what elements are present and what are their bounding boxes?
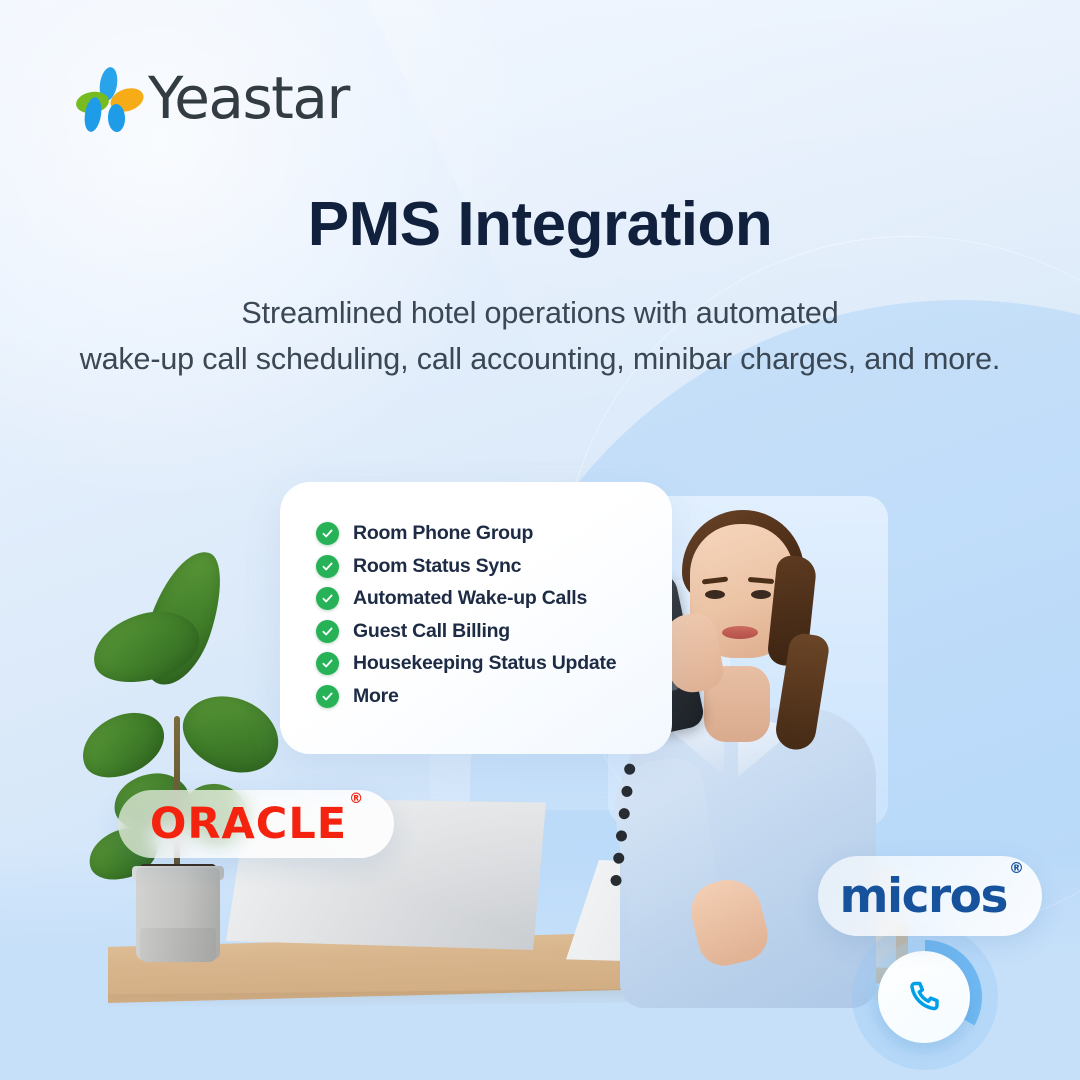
eye-left [705, 590, 725, 599]
check-circle-icon [316, 587, 339, 610]
feature-label: Housekeeping Status Update [353, 652, 616, 675]
feature-label: More [353, 685, 399, 708]
phone-badge[interactable] [878, 951, 970, 1043]
check-circle-icon [316, 685, 339, 708]
eye-right [751, 590, 771, 599]
potted-plant [78, 530, 268, 1000]
poster-canvas: Yeastar PMS Integration Streamlined hote… [0, 0, 1080, 1080]
list-item: Guest Call Billing [316, 620, 672, 643]
phone-handset-icon [905, 978, 943, 1016]
feature-label: Room Phone Group [353, 522, 533, 545]
headline-block: PMS Integration Streamlined hotel operat… [0, 192, 1080, 382]
partner-badge-oracle[interactable]: ORACLE® [118, 790, 394, 858]
page-title: PMS Integration [0, 192, 1080, 259]
brand-wordmark: Yeastar [148, 64, 349, 132]
check-circle-icon [316, 522, 339, 545]
list-item: Room Status Sync [316, 555, 672, 578]
page-subtitle: Streamlined hotel operations with automa… [0, 291, 1080, 383]
oracle-logo-text: ORACLE® [150, 803, 362, 846]
subtitle-line-2: wake-up call scheduling, call accounting… [0, 337, 1080, 383]
scene-illustration: Room Phone Group Room Status Sync Automa… [0, 400, 1080, 1080]
list-item: Room Phone Group [316, 522, 672, 545]
list-item: Automated Wake-up Calls [316, 587, 672, 610]
lips [722, 626, 758, 639]
feature-label: Guest Call Billing [353, 620, 510, 643]
feature-label: Automated Wake-up Calls [353, 587, 587, 610]
micros-logo-text: micros® [840, 873, 1021, 920]
list-item: More [316, 685, 672, 708]
check-circle-icon [316, 652, 339, 675]
brand-logo[interactable]: Yeastar [78, 64, 349, 132]
feature-label: Room Status Sync [353, 555, 521, 578]
subtitle-line-1: Streamlined hotel operations with automa… [0, 291, 1080, 337]
feature-list-card: Room Phone Group Room Status Sync Automa… [280, 482, 672, 754]
check-circle-icon [316, 555, 339, 578]
partner-badge-micros[interactable]: micros® [818, 856, 1042, 936]
yeastar-pinwheel-logo-icon [78, 67, 134, 129]
check-circle-icon [316, 620, 339, 643]
list-item: Housekeeping Status Update [316, 652, 672, 675]
